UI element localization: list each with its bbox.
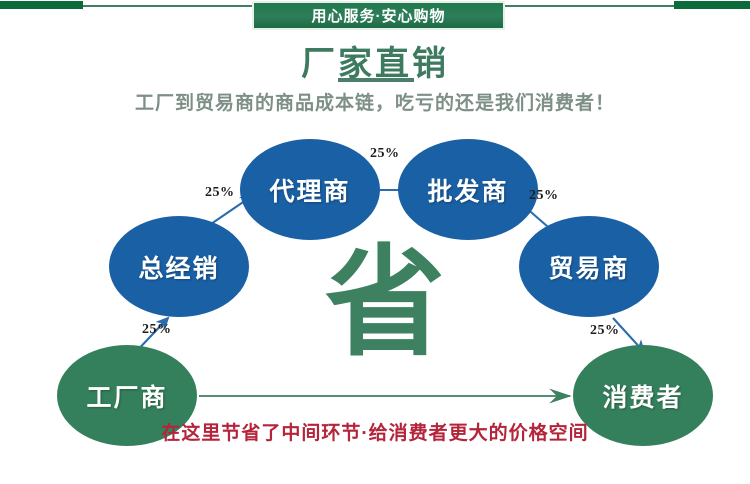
top-divider-cap-right xyxy=(674,1,750,9)
node-general-distributor-label: 总经销 xyxy=(138,249,219,285)
markup-label-wholesale-to-trader: 25% xyxy=(529,188,559,204)
page-subtitle: 工厂到贸易商的商品成本链，吃亏的还是我们消费者！ xyxy=(0,88,750,115)
markup-label-agent-to-wholesale: 25% xyxy=(370,146,400,162)
node-trader-label: 贸易商 xyxy=(548,249,629,285)
markup-label-factory-to-general: 25% xyxy=(142,322,172,338)
savings-glyph: 省 xyxy=(310,243,460,363)
node-general-distributor[interactable]: 总经销 xyxy=(109,216,249,317)
service-banner-text: 用心服务·安心购物 xyxy=(312,5,446,26)
bottom-slogan: 在这里节省了中间环节·给消费者更大的价格空间 xyxy=(0,418,750,445)
markup-label-trader-to-consumer: 25% xyxy=(590,323,620,339)
node-agent[interactable]: 代理商 xyxy=(240,139,380,240)
title-underline xyxy=(338,78,414,82)
node-wholesaler-label: 批发商 xyxy=(427,172,508,208)
poster-canvas: 用心服务·安心购物 厂家直销 工厂到贸易商的商品成本链，吃亏的还是我们消费者！ … xyxy=(0,0,750,484)
markup-label-general-to-agent: 25% xyxy=(205,185,235,201)
top-divider-cap-left xyxy=(0,1,83,9)
node-wholesaler[interactable]: 批发商 xyxy=(398,139,538,240)
node-factory-label: 工厂商 xyxy=(86,378,167,414)
service-banner: 用心服务·安心购物 xyxy=(252,1,505,30)
node-agent-label: 代理商 xyxy=(269,172,350,208)
node-consumer-label: 消费者 xyxy=(602,378,683,414)
node-trader[interactable]: 贸易商 xyxy=(519,216,659,317)
